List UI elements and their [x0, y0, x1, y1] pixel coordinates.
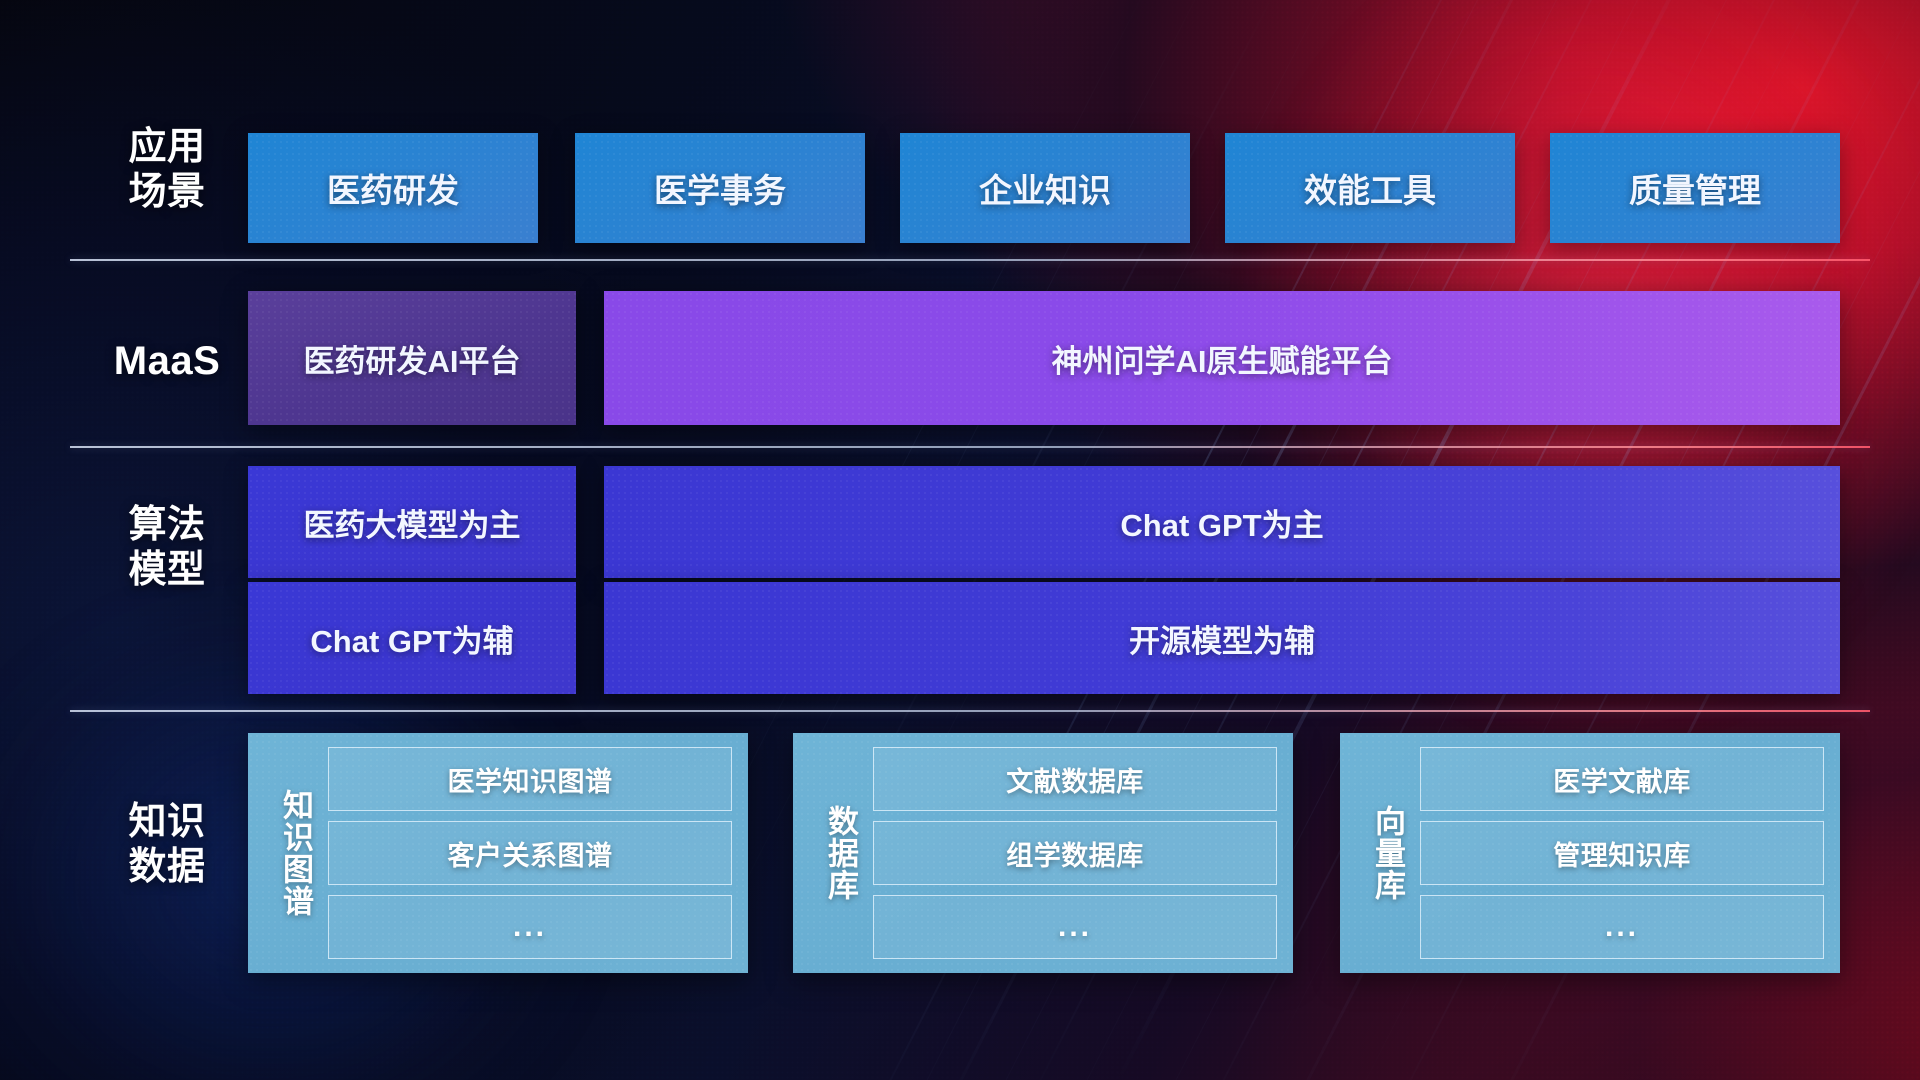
knowledge-panel-2-title: 向量库 [1354, 747, 1420, 959]
knowledge-item-more[interactable]: ... [328, 895, 732, 959]
knowledge-item[interactable]: 医学文献库 [1420, 747, 1824, 811]
knowledge-item[interactable]: 客户关系图谱 [328, 821, 732, 885]
row-label-knowledge-data: 知识 数据 [92, 800, 242, 890]
divider-3 [70, 710, 1870, 712]
knowledge-panel-2[interactable]: 向量库 医学文献库 管理知识库 ... [1340, 733, 1840, 973]
maas-right-tile[interactable]: 神州问学AI原生赋能平台 [604, 291, 1840, 425]
knowledge-panel-1-title: 数据库 [807, 747, 873, 959]
divider-2 [70, 446, 1870, 448]
row-label-line-2: 场景 [92, 170, 242, 215]
knowledge-item[interactable]: 医学知识图谱 [328, 747, 732, 811]
row-label-line-1: 算法 [92, 503, 242, 548]
maas-left-tile[interactable]: 医药研发AI平台 [248, 291, 576, 425]
algo-bar-1-left[interactable]: Chat GPT为辅 [248, 582, 576, 694]
knowledge-item[interactable]: 组学数据库 [873, 821, 1277, 885]
algo-bar-1-right[interactable]: 开源模型为辅 [604, 582, 1840, 694]
row-label-line-2: 数据 [92, 845, 242, 890]
algo-bar-0-right[interactable]: Chat GPT为主 [604, 466, 1840, 578]
knowledge-item-more[interactable]: ... [873, 895, 1277, 959]
knowledge-panel-0[interactable]: 知识图谱 医学知识图谱 客户关系图谱 ... [248, 733, 748, 973]
knowledge-panel-1-items: 文献数据库 组学数据库 ... [873, 747, 1277, 959]
app-tile-3[interactable]: 效能工具 [1225, 133, 1515, 243]
knowledge-item[interactable]: 管理知识库 [1420, 821, 1824, 885]
knowledge-item-more[interactable]: ... [1420, 895, 1824, 959]
row-label-maas: MaaS [92, 338, 242, 385]
divider-1 [70, 259, 1870, 261]
row-label-line-2: 模型 [92, 548, 242, 593]
row-label-line-1: 知识 [92, 800, 242, 845]
knowledge-panel-2-items: 医学文献库 管理知识库 ... [1420, 747, 1824, 959]
knowledge-panel-1[interactable]: 数据库 文献数据库 组学数据库 ... [793, 733, 1293, 973]
row-label-algorithm-model: 算法 模型 [92, 503, 242, 593]
architecture-diagram: 应用 场景 医药研发 医学事务 企业知识 效能工具 质量管理 MaaS 医药研发… [0, 0, 1920, 1080]
knowledge-panel-0-items: 医学知识图谱 客户关系图谱 ... [328, 747, 732, 959]
app-tile-2[interactable]: 企业知识 [900, 133, 1190, 243]
algo-bar-0-left[interactable]: 医药大模型为主 [248, 466, 576, 578]
app-tile-4[interactable]: 质量管理 [1550, 133, 1840, 243]
row-label-application-scenarios: 应用 场景 [92, 125, 242, 215]
knowledge-panel-0-title: 知识图谱 [262, 747, 328, 959]
app-tile-0[interactable]: 医药研发 [248, 133, 538, 243]
row-label-line-1: 应用 [92, 125, 242, 170]
app-tile-1[interactable]: 医学事务 [575, 133, 865, 243]
knowledge-item[interactable]: 文献数据库 [873, 747, 1277, 811]
